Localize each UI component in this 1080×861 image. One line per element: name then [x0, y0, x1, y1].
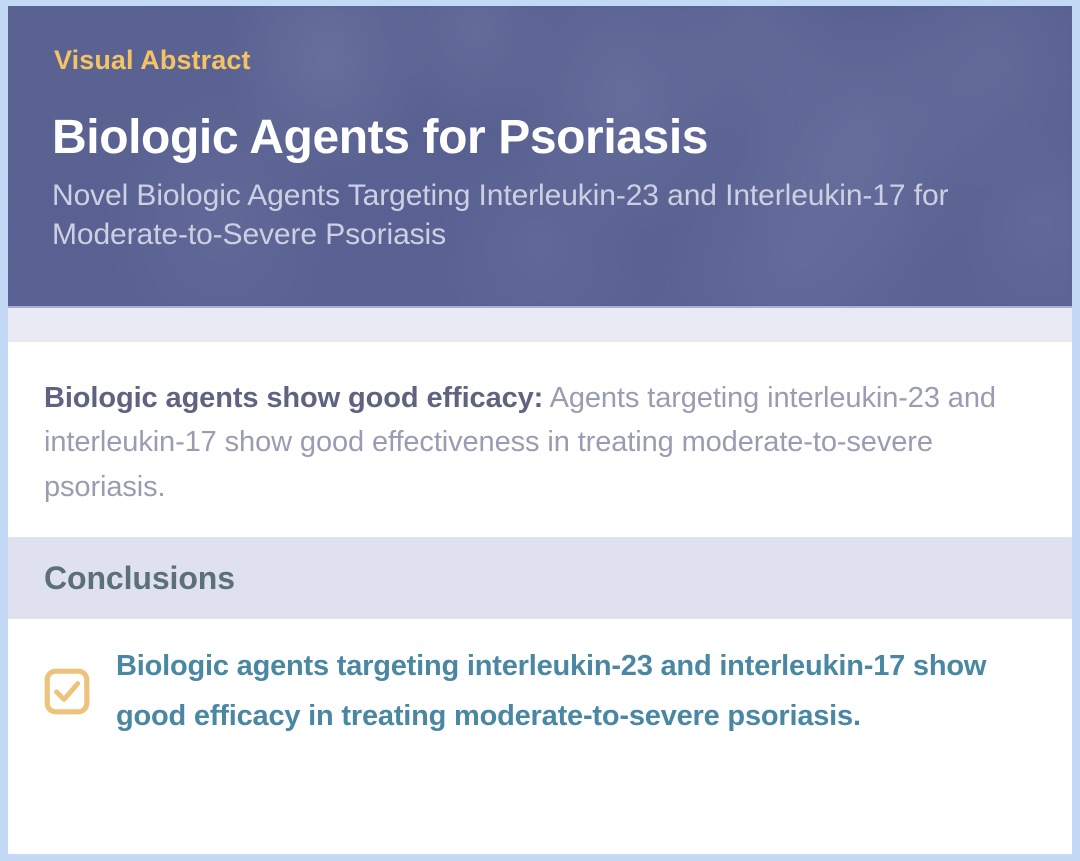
checkbox-checked-icon [44, 668, 90, 715]
visual-abstract-card: Visual Abstract Biologic Agents for Psor… [0, 0, 1080, 861]
page-title: Biologic Agents for Psoriasis [52, 112, 1028, 164]
summary-lead: Biologic agents show good efficacy: [44, 382, 543, 414]
conclusions-section-bar: Conclusions [8, 537, 1072, 619]
header-content: Visual Abstract Biologic Agents for Psor… [52, 46, 1028, 255]
conclusions-section: Biologic agents targeting interleukin-23… [8, 619, 1072, 771]
summary-section: Biologic agents show good efficacy: Agen… [8, 342, 1072, 537]
card-header: Visual Abstract Biologic Agents for Psor… [8, 6, 1072, 306]
list-item: Biologic agents targeting interleukin-23… [44, 641, 1032, 741]
eyebrow-label: Visual Abstract [54, 46, 1028, 76]
page-subtitle: Novel Biologic Agents Targeting Interleu… [52, 176, 952, 255]
header-divider-strip [8, 306, 1072, 342]
conclusions-section-title: Conclusions [44, 560, 235, 597]
conclusion-text: Biologic agents targeting interleukin-23… [116, 641, 1032, 741]
